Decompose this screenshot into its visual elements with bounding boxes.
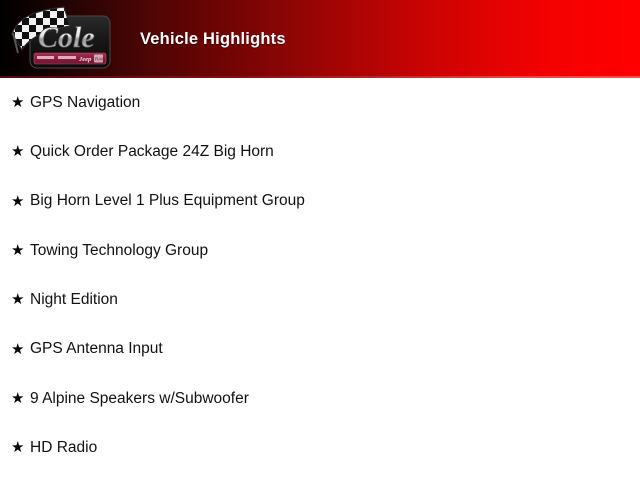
list-item: ★ Big Horn Level 1 Plus Equipment Group [0,177,640,226]
list-item-label: Big Horn Level 1 Plus Equipment Group [30,193,305,209]
list-item: ★ Quick Order Package 24Z Big Horn [0,127,640,176]
list-item-label: Quick Order Package 24Z Big Horn [30,144,274,160]
cole-dealership-logo[interactable]: Cole Jeep RAM [8,4,114,74]
list-item-label: Towing Technology Group [30,243,208,259]
list-item: ★ GPS Navigation [0,78,640,127]
svg-text:RAM: RAM [95,57,105,62]
list-item-label: Night Edition [30,292,118,308]
vehicle-highlights-list: ★ GPS Navigation ★ Quick Order Package 2… [0,78,640,472]
list-item: ★ 9 Alpine Speakers w/Subwoofer [0,374,640,423]
list-item: ★ Night Edition [0,275,640,324]
star-bullet-icon: ★ [11,391,30,406]
logo-brand-strip: Jeep RAM [34,53,106,64]
vehicle-highlights-page: Cole Jeep RAM Vehicle Highlights ★ GPS N… [0,0,640,480]
star-bullet-icon: ★ [11,243,30,258]
svg-text:Jeep: Jeep [78,56,92,63]
star-bullet-icon: ★ [11,194,30,209]
page-title: Vehicle Highlights [140,30,286,49]
star-bullet-icon: ★ [11,144,30,159]
star-bullet-icon: ★ [11,95,30,110]
star-bullet-icon: ★ [11,342,30,357]
list-item-label: GPS Antenna Input [30,341,163,357]
list-item: ★ HD Radio [0,423,640,472]
page-header: Cole Jeep RAM Vehicle Highlights [0,0,640,78]
star-bullet-icon: ★ [11,440,30,455]
list-item-label: 9 Alpine Speakers w/Subwoofer [30,391,249,407]
list-item: ★ GPS Antenna Input [0,324,640,373]
list-item: ★ Towing Technology Group [0,226,640,275]
star-bullet-icon: ★ [11,292,30,307]
logo-wordmark: Cole [38,21,95,54]
list-item-label: GPS Navigation [30,95,140,111]
list-item-label: HD Radio [30,440,97,456]
